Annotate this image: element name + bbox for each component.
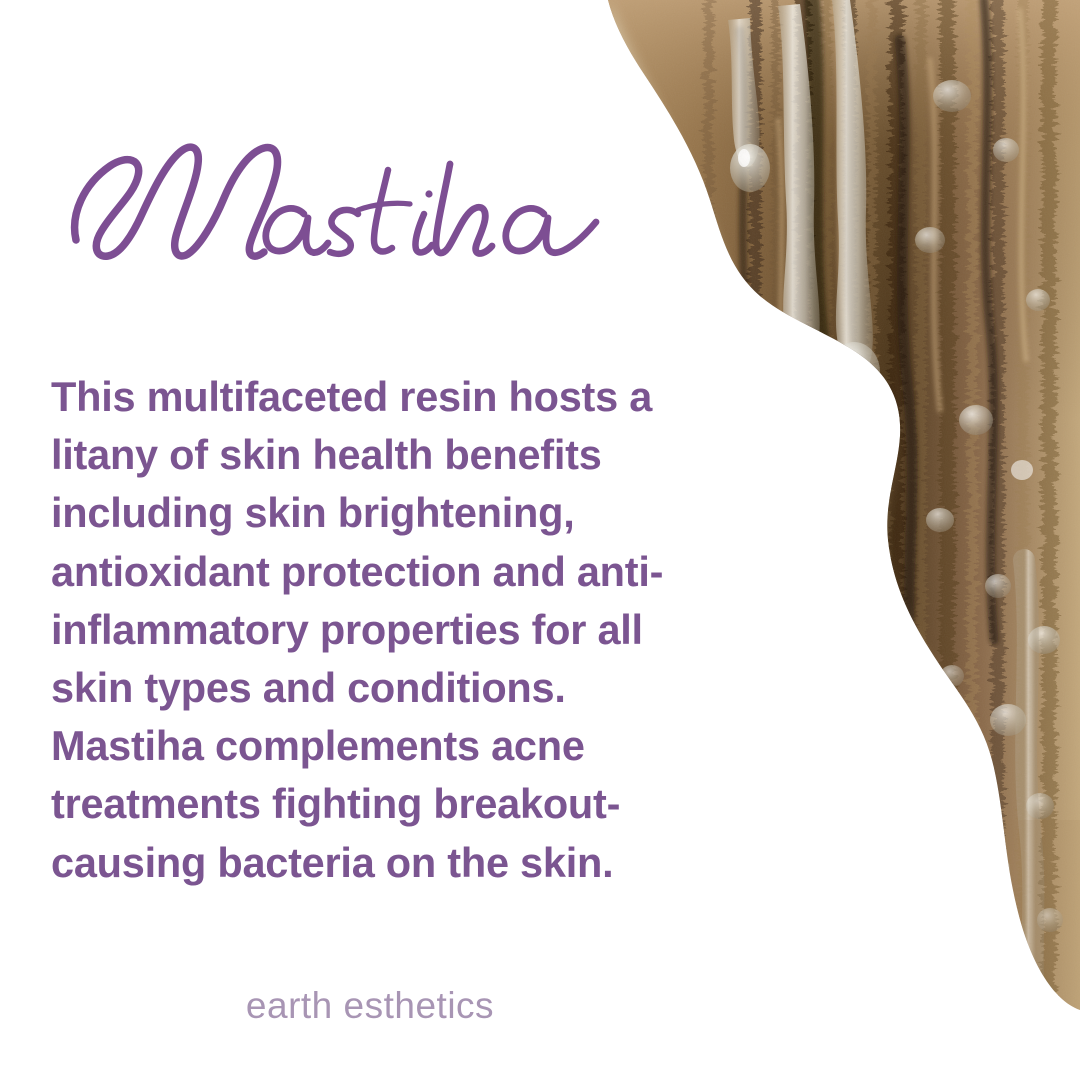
brand-name: earth esthetics bbox=[246, 985, 494, 1027]
description-text: This multifaceted resin hosts a litany o… bbox=[51, 368, 741, 892]
page-title: Mastiha bbox=[58, 118, 618, 288]
brand-footer: earth esthetics bbox=[0, 985, 1080, 1027]
body-copy-block: This multifaceted resin hosts a litany o… bbox=[51, 368, 741, 892]
poster-canvas: Mastiha This multifacet bbox=[0, 0, 1080, 1080]
title-script-art: Mastiha bbox=[58, 118, 618, 288]
